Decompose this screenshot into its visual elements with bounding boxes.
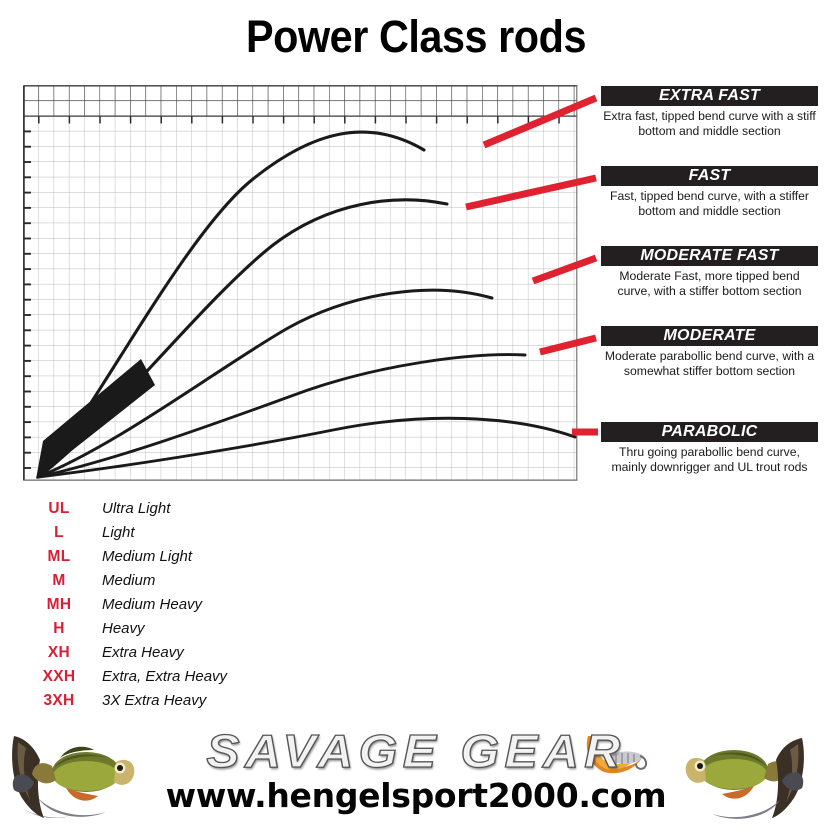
callout-parabolic: PARABOLIC Thru going parabollic bend cur… xyxy=(601,422,818,475)
legend-row: L Light xyxy=(28,521,348,545)
legend-name: Extra Heavy xyxy=(90,641,184,665)
chart-svg xyxy=(23,85,578,481)
brand-logo: SAVAGE GEAR xyxy=(0,728,832,774)
legend-name: Medium Light xyxy=(90,545,192,569)
legend-abbr: L xyxy=(28,521,90,545)
brand-url: www.hengelsport2000.com xyxy=(0,779,832,812)
callout-moderate: MODERATE Moderate parabollic bend curve,… xyxy=(601,326,818,379)
legend-row: XH Extra Heavy xyxy=(28,641,348,665)
callout-desc-moderate-fast: Moderate Fast, more tipped bend curve, w… xyxy=(601,266,818,299)
legend-name: Extra, Extra Heavy xyxy=(90,665,227,689)
legend-abbr: UL xyxy=(28,497,90,521)
legend-row: 3XH 3X Extra Heavy xyxy=(28,689,348,713)
legend-name: 3X Extra Heavy xyxy=(90,689,206,713)
legend-row: H Heavy xyxy=(28,617,348,641)
callout-title-moderate-fast: MODERATE FAST xyxy=(601,246,818,266)
callout-desc-extra-fast: Extra fast, tipped bend curve with a sti… xyxy=(601,106,818,139)
legend-abbr: XXH xyxy=(28,665,90,689)
callout-title-parabolic: PARABOLIC xyxy=(601,422,818,442)
legend-abbr: 3XH xyxy=(28,689,90,713)
legend-name: Medium Heavy xyxy=(90,593,202,617)
legend-name: Heavy xyxy=(90,617,145,641)
legend-row: ML Medium Light xyxy=(28,545,348,569)
callout-title-fast: FAST xyxy=(601,166,818,186)
legend-row: MH Medium Heavy xyxy=(28,593,348,617)
legend-name: Medium xyxy=(90,569,155,593)
grid-header-rows xyxy=(24,86,578,117)
legend-abbr: XH xyxy=(28,641,90,665)
callout-desc-moderate: Moderate parabollic bend curve, with a s… xyxy=(601,346,818,379)
callout-extra-fast: EXTRA FAST Extra fast, tipped bend curve… xyxy=(601,86,818,139)
callout-desc-parabolic: Thru going parabollic bend curve, mainly… xyxy=(601,442,818,475)
legend-row: UL Ultra Light xyxy=(28,497,348,521)
legend-row: M Medium xyxy=(28,569,348,593)
infographic-page: Power Class rods xyxy=(0,0,832,832)
legend-name: Light xyxy=(90,521,135,545)
bend-curve-chart xyxy=(23,85,578,481)
callout-desc-fast: Fast, tipped bend curve, with a stiffer … xyxy=(601,186,818,219)
legend-abbr: ML xyxy=(28,545,90,569)
legend-row: XXH Extra, Extra Heavy xyxy=(28,665,348,689)
legend-abbr: MH xyxy=(28,593,90,617)
callout-title-extra-fast: EXTRA FAST xyxy=(601,86,818,106)
page-title: Power Class rods xyxy=(33,14,798,59)
legend-abbr: H xyxy=(28,617,90,641)
legend-name: Ultra Light xyxy=(90,497,170,521)
brand-footer: SAVAGE GEAR www.hengelsport2000.com xyxy=(0,722,832,832)
legend-abbr: M xyxy=(28,569,90,593)
callout-fast: FAST Fast, tipped bend curve, with a sti… xyxy=(601,166,818,219)
callout-title-moderate: MODERATE xyxy=(601,326,818,346)
power-class-legend: UL Ultra Light L Light ML Medium Light M… xyxy=(28,497,348,713)
callout-moderate-fast: MODERATE FAST Moderate Fast, more tipped… xyxy=(601,246,818,299)
